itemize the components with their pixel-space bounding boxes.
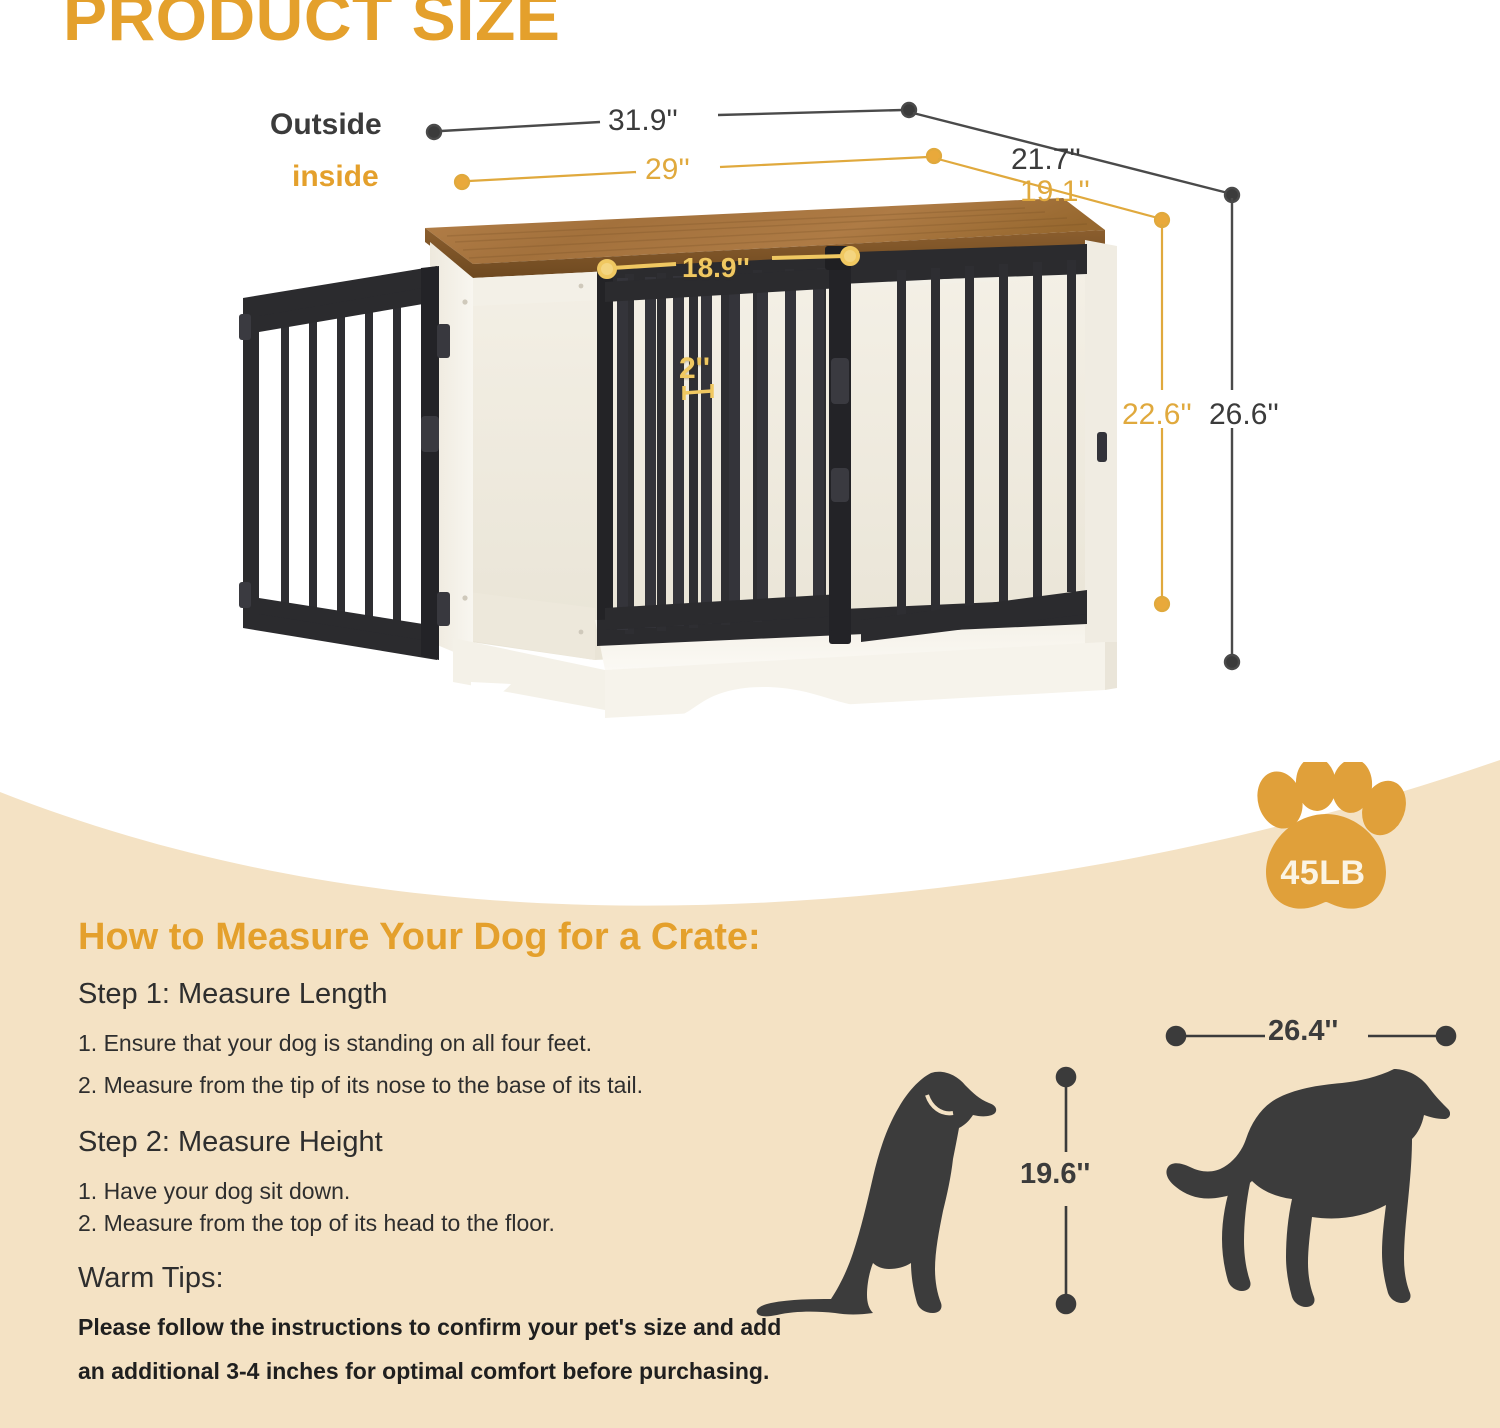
legend-outside-label: Outside	[270, 108, 382, 142]
measure-guide-heading: How to Measure Your Dog for a Crate:	[78, 916, 761, 959]
dog-crate-product-image	[225, 190, 1130, 735]
dimension-outside-width: 31.9''	[608, 104, 678, 138]
dimension-outside-depth: 21.7''	[1011, 143, 1081, 177]
paw-print-icon	[1238, 762, 1408, 922]
step-1-line-2: 2. Measure from the tip of its nose to t…	[78, 1072, 643, 1099]
step-2-line-2: 2. Measure from the top of its head to t…	[78, 1210, 555, 1237]
dimension-outside-height: 26.6''	[1209, 398, 1279, 432]
step-1-title: Step 1: Measure Length	[78, 978, 388, 1011]
dimension-inside-depth: 19.1''	[1020, 175, 1090, 209]
dog-standing-silhouette-icon	[1160, 1055, 1450, 1345]
page-title: PRODUCT SIZE	[63, 0, 560, 50]
step-2-title: Step 2: Measure Height	[78, 1126, 383, 1159]
dimension-door-opening-width: 18.9''	[682, 252, 750, 284]
warm-tips-line-1: Please follow the instructions to confir…	[78, 1314, 781, 1341]
dog-height-dimension-label: 19.6''	[1020, 1158, 1090, 1191]
capacity-weight-label: 45LB	[1238, 854, 1408, 893]
step-2-line-1: 1. Have your dog sit down.	[78, 1178, 350, 1205]
dog-length-dimension-label: 26.4''	[1268, 1015, 1338, 1048]
infographic-canvas: PRODUCT SIZE	[0, 0, 1500, 1428]
warm-tips-line-2: an additional 3-4 inches for optimal com…	[78, 1358, 769, 1385]
dimension-bar-spacing: 2''	[679, 352, 710, 386]
dimension-inside-width: 29''	[645, 153, 690, 187]
dimension-inside-height: 22.6''	[1122, 398, 1192, 432]
dog-sitting-silhouette-icon	[755, 1055, 1000, 1345]
legend-inside-label: inside	[292, 160, 379, 194]
capacity-paw-badge: 45LB	[1238, 762, 1408, 922]
step-1-line-1: 1. Ensure that your dog is standing on a…	[78, 1030, 592, 1057]
warm-tips-title: Warm Tips:	[78, 1262, 224, 1295]
